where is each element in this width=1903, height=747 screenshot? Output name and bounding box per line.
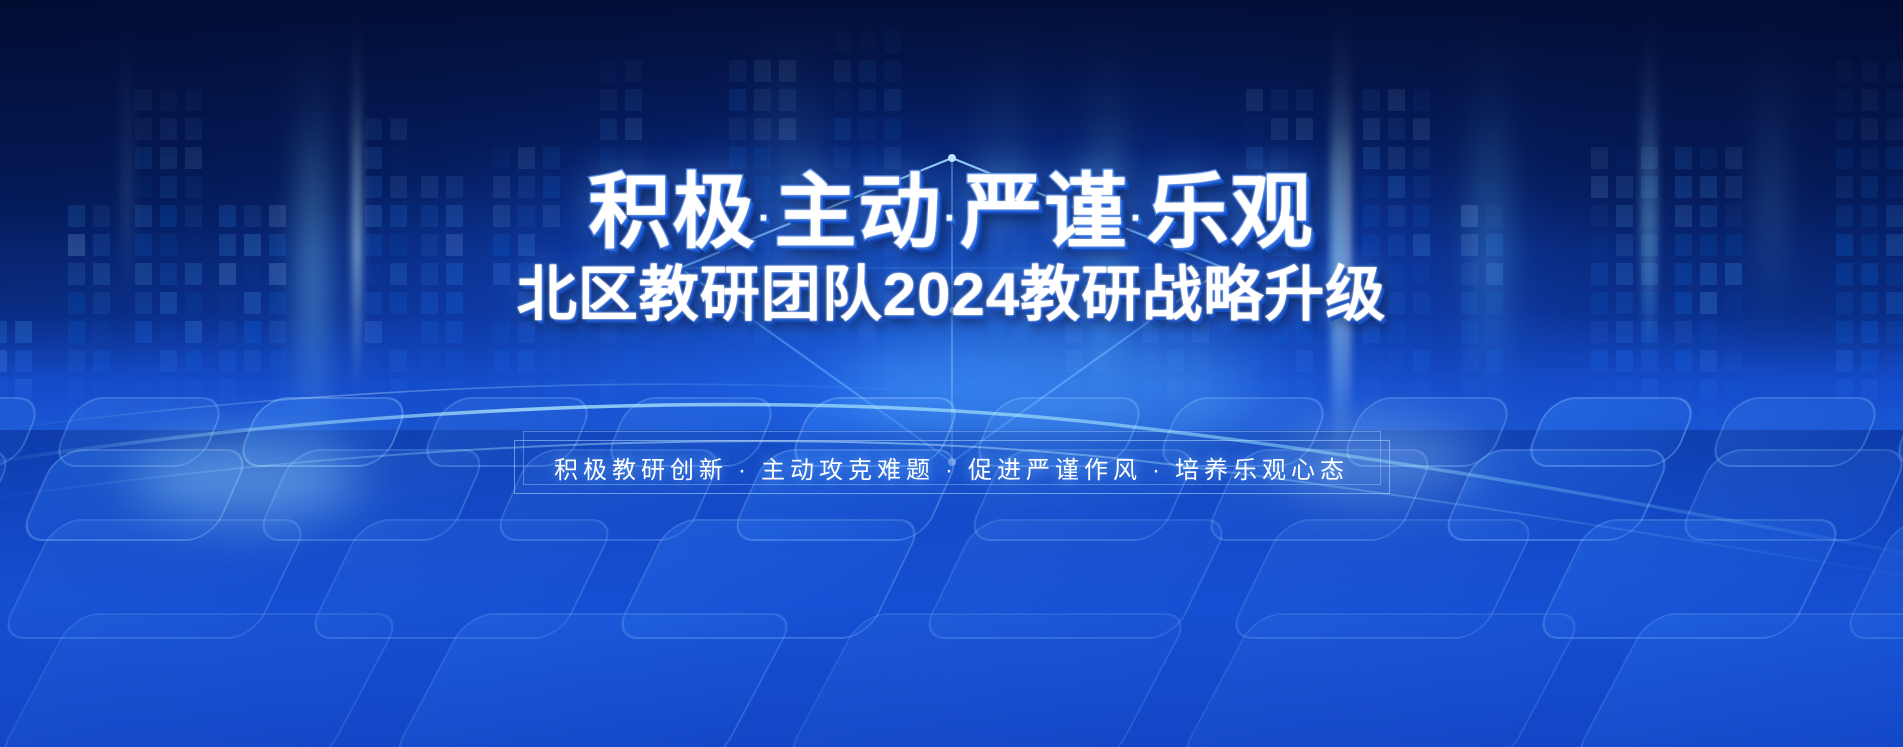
tagline-item-2: 主动攻克难题 (761, 457, 935, 484)
tagline-item-3: 促进严谨作风 (968, 457, 1142, 484)
tagline-dot-3: · (1142, 457, 1175, 484)
title-separator-1: · (756, 197, 774, 238)
title-word-2: 主动 (774, 167, 942, 258)
title-word-3: 严谨 (961, 167, 1129, 258)
title-separator-3: · (1129, 197, 1147, 238)
tagline-text: 积极教研创新·主动攻克难题·促进严谨作风·培养乐观心态 (554, 450, 1349, 485)
page-title: 积极·主动·严谨·乐观 (0, 172, 1903, 254)
tagline-dot-2: · (935, 457, 968, 484)
title-word-1: 积极 (588, 167, 756, 258)
tagline-bar: 积极教研创新·主动攻克难题·促进严谨作风·培养乐观心态 (514, 440, 1390, 494)
page-subtitle: 北区教研团队2024教研战略升级 (0, 265, 1903, 325)
tagline-item-1: 积极教研创新 (554, 457, 728, 484)
title-separator-2: · (943, 197, 961, 238)
tagline-dot-1: · (728, 457, 761, 484)
title-word-4: 乐观 (1147, 167, 1315, 258)
tagline-item-4: 培养乐观心态 (1175, 457, 1349, 484)
banner-root: 积极·主动·严谨·乐观 北区教研团队2024教研战略升级 积极教研创新·主动攻克… (0, 0, 1903, 747)
banner-content: 积极·主动·严谨·乐观 北区教研团队2024教研战略升级 积极教研创新·主动攻克… (0, 0, 1903, 747)
